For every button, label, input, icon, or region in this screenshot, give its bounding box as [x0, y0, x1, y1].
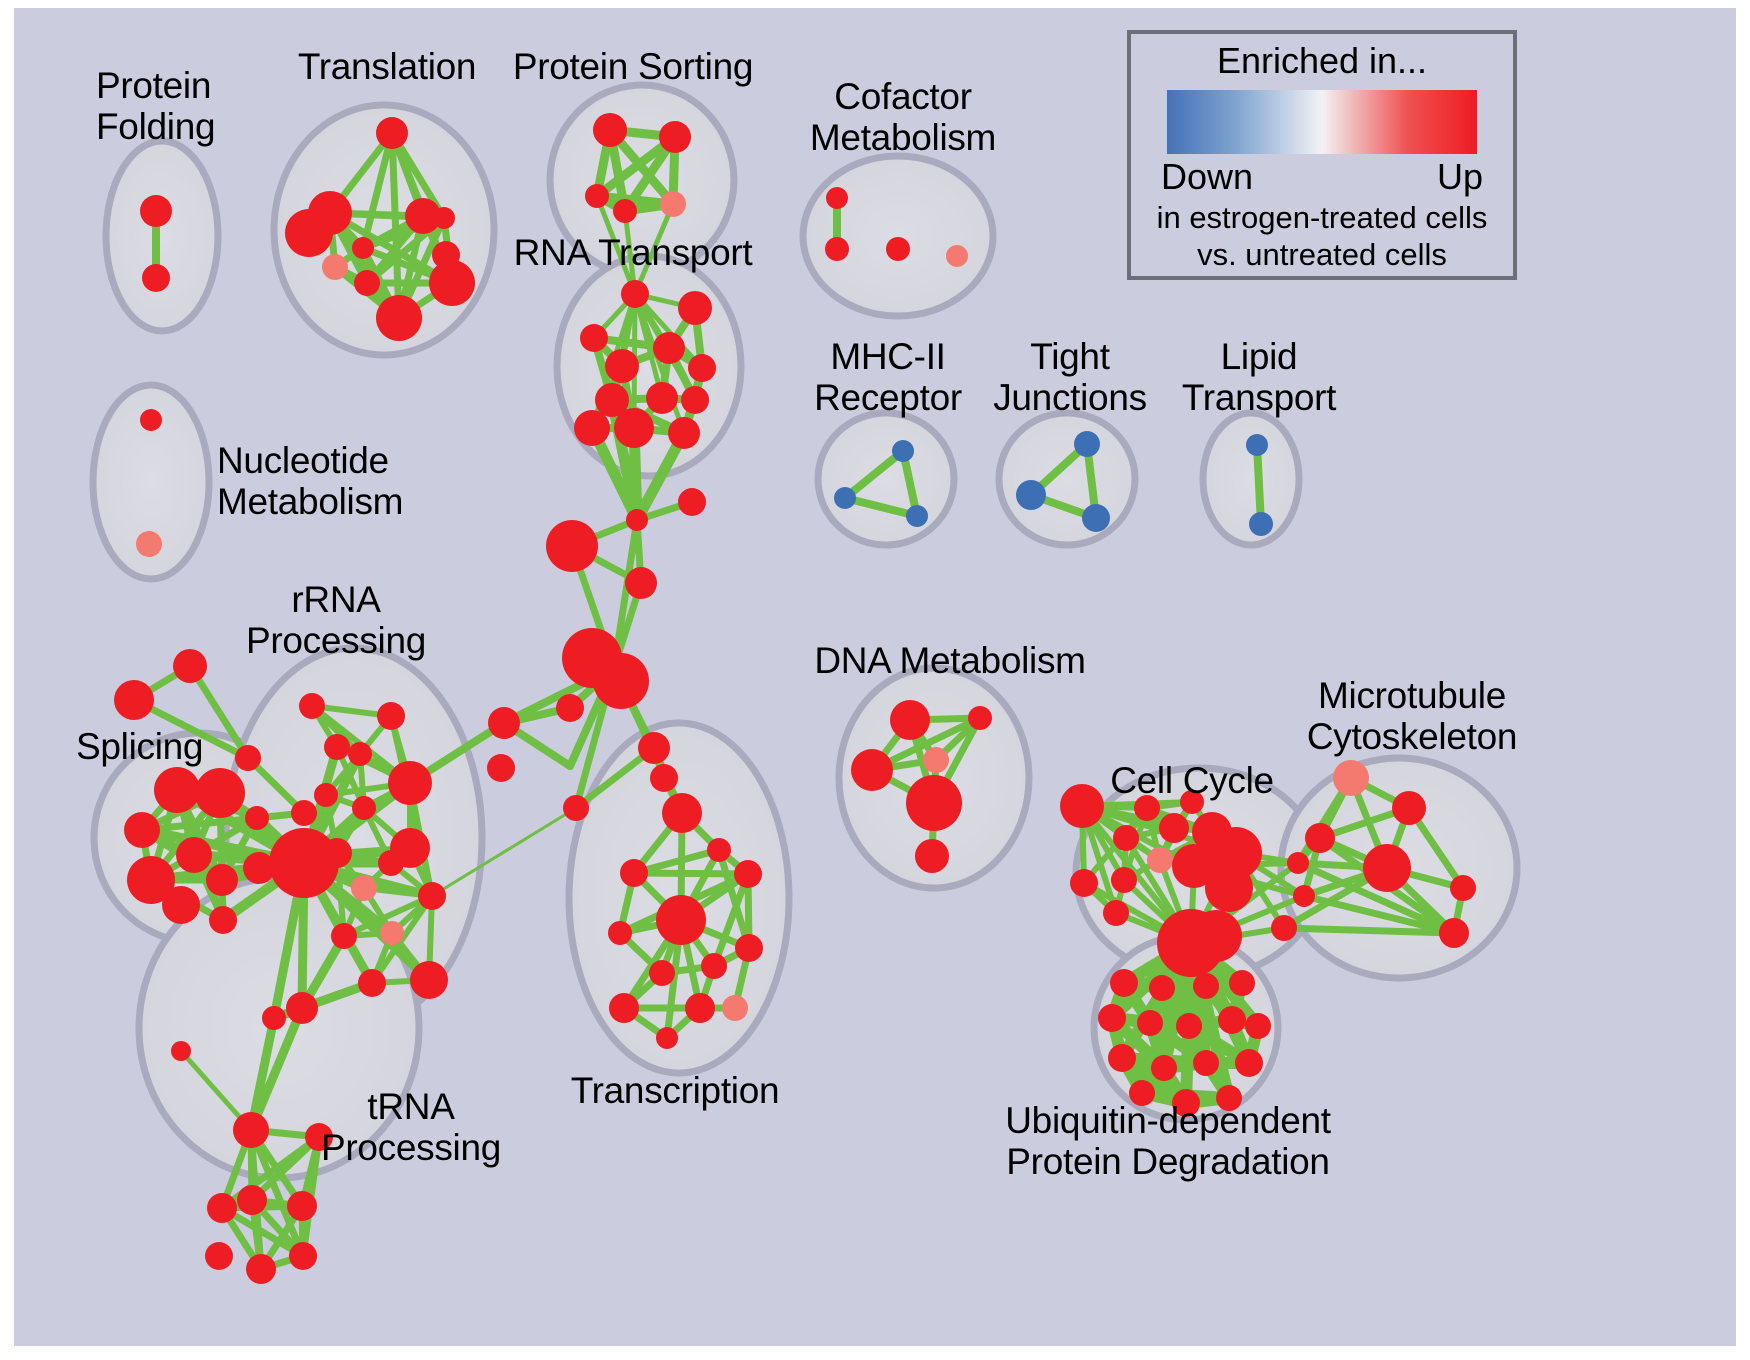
hull-tight-junctions	[999, 413, 1135, 545]
node	[678, 488, 706, 516]
node	[613, 199, 637, 223]
node	[299, 693, 325, 719]
node	[825, 237, 849, 261]
label-dna-metabolism: DNA Metabolism	[814, 640, 1085, 681]
node	[352, 237, 374, 259]
node	[1205, 864, 1253, 912]
node	[653, 332, 685, 364]
legend-subtitle-line1: in estrogen-treated cells	[1131, 200, 1513, 235]
node	[1111, 867, 1137, 893]
node	[314, 783, 338, 807]
node	[1108, 1044, 1136, 1072]
node	[968, 706, 992, 730]
node	[892, 440, 914, 462]
label-mhc-ii-receptor: MHC-II Receptor	[814, 336, 962, 418]
node	[681, 386, 709, 414]
node	[722, 995, 748, 1021]
node	[563, 795, 589, 821]
node	[354, 270, 380, 296]
node	[114, 680, 154, 720]
node	[376, 117, 408, 149]
node	[287, 1191, 317, 1221]
node	[262, 1006, 286, 1030]
node	[826, 187, 848, 209]
node	[286, 992, 318, 1024]
node	[1193, 1050, 1219, 1076]
node	[176, 837, 212, 873]
node	[688, 354, 716, 382]
node	[946, 245, 968, 267]
label-cofactor-metabolism: Cofactor Metabolism	[810, 76, 996, 158]
node	[206, 864, 238, 896]
label-microtubule-cytoskeleton: Microtubule Cytoskeleton	[1307, 675, 1517, 757]
node	[734, 860, 762, 888]
node	[1333, 760, 1369, 796]
node	[915, 839, 949, 873]
node	[1305, 823, 1335, 853]
node	[488, 707, 520, 739]
node	[1229, 970, 1255, 996]
node	[140, 195, 172, 227]
label-cell-cycle: Cell Cycle	[1110, 760, 1274, 801]
node	[660, 191, 686, 217]
node	[209, 906, 237, 934]
node	[1151, 1055, 1177, 1081]
node	[245, 806, 269, 830]
label-protein-folding: Protein Folding	[96, 65, 215, 147]
node	[886, 237, 910, 261]
node	[1159, 813, 1189, 843]
node	[237, 1185, 267, 1215]
node	[233, 1112, 269, 1148]
label-protein-sorting: Protein Sorting	[513, 46, 753, 87]
node	[1137, 1010, 1163, 1036]
label-rna-transport: RNA Transport	[514, 232, 753, 273]
node	[1439, 918, 1469, 948]
legend-box: Enriched in... Down Up in estrogen-treat…	[1127, 30, 1517, 280]
node	[322, 838, 352, 868]
node	[1070, 869, 1098, 897]
hull-protein-folding	[106, 141, 218, 331]
label-trna-processing: tRNA Processing	[321, 1086, 501, 1168]
node	[656, 1027, 678, 1049]
node	[351, 875, 377, 901]
node	[348, 742, 372, 766]
figure-root: Protein Folding Translation Protein Sort…	[0, 0, 1750, 1360]
node	[1147, 847, 1173, 873]
node	[659, 121, 691, 153]
node	[377, 702, 405, 730]
node	[707, 838, 731, 862]
node	[1287, 852, 1309, 874]
node	[322, 254, 348, 280]
label-tight-junctions: Tight Junctions	[993, 336, 1147, 418]
node	[124, 812, 160, 848]
node	[358, 969, 386, 997]
legend-title: Enriched in...	[1131, 40, 1513, 82]
node	[546, 520, 598, 572]
node	[649, 960, 675, 986]
node	[376, 295, 422, 341]
legend-low-label: Down	[1161, 156, 1253, 198]
node	[1060, 784, 1104, 828]
node	[1016, 480, 1046, 510]
node	[1149, 975, 1175, 1001]
node	[890, 700, 930, 740]
node	[1363, 844, 1411, 892]
node	[195, 768, 245, 818]
node	[171, 1041, 191, 1061]
node	[1218, 1006, 1246, 1034]
node	[556, 694, 584, 722]
node	[388, 761, 432, 805]
node	[1113, 825, 1139, 851]
node	[585, 184, 609, 208]
node	[1246, 434, 1268, 456]
node	[638, 732, 670, 764]
label-transcription: Transcription	[571, 1070, 780, 1111]
node	[289, 1242, 317, 1270]
node	[154, 767, 200, 813]
node	[625, 567, 657, 599]
node	[609, 993, 639, 1023]
node	[136, 531, 162, 557]
node	[235, 745, 261, 771]
node	[1110, 969, 1138, 997]
node	[626, 509, 648, 531]
node	[621, 280, 649, 308]
node	[487, 754, 515, 782]
node	[324, 734, 350, 760]
legend-subtitle-line2: vs. untreated cells	[1131, 237, 1513, 272]
node	[906, 775, 962, 831]
node	[1103, 900, 1129, 926]
label-lipid-transport: Lipid Transport	[1182, 336, 1336, 418]
node	[646, 382, 678, 414]
node	[650, 764, 678, 792]
node	[834, 487, 856, 509]
node	[851, 749, 893, 791]
node	[378, 850, 404, 876]
node	[614, 408, 654, 448]
network-canvas: Protein Folding Translation Protein Sort…	[14, 8, 1736, 1346]
node	[1271, 915, 1297, 941]
legend-high-label: Up	[1437, 156, 1483, 198]
node	[173, 649, 207, 683]
node	[429, 260, 475, 306]
node	[678, 291, 712, 325]
label-ubiquitin-degradation: Ubiquitin-dependent Protein Degradation	[1005, 1100, 1331, 1182]
node	[593, 653, 649, 709]
node	[418, 882, 446, 910]
node	[1249, 512, 1273, 536]
node	[668, 417, 700, 449]
node	[1392, 791, 1426, 825]
node	[1193, 973, 1219, 999]
node	[1450, 875, 1476, 901]
node	[735, 934, 763, 962]
node	[162, 886, 200, 924]
node	[410, 961, 448, 999]
hull-mhc-ii	[818, 413, 954, 545]
hull-cofactor-metabolism	[803, 156, 993, 316]
node	[331, 923, 357, 949]
node	[608, 921, 632, 945]
label-splicing: Splicing	[76, 726, 203, 767]
node	[246, 1254, 276, 1284]
node	[1190, 910, 1242, 962]
node	[1098, 1004, 1126, 1032]
node	[656, 895, 706, 945]
node	[1293, 885, 1315, 907]
node	[574, 410, 610, 446]
node	[906, 505, 928, 527]
node	[605, 349, 639, 383]
node	[207, 1193, 237, 1223]
node	[140, 409, 162, 431]
label-nucleotide-metabolism: Nucleotide Metabolism	[217, 440, 403, 522]
node	[352, 796, 376, 820]
node	[1235, 1049, 1263, 1077]
label-translation: Translation	[298, 46, 476, 87]
node	[685, 993, 715, 1023]
node	[923, 747, 949, 773]
node	[142, 264, 170, 292]
node	[701, 953, 727, 979]
node	[662, 793, 702, 833]
node	[593, 113, 627, 147]
node	[380, 921, 404, 945]
node	[285, 209, 333, 257]
node	[433, 207, 455, 229]
node	[1082, 504, 1110, 532]
node	[1074, 431, 1100, 457]
node	[1176, 1013, 1202, 1039]
legend-color-ramp	[1167, 90, 1477, 154]
node	[620, 859, 648, 887]
node	[1245, 1013, 1271, 1039]
node	[580, 324, 608, 352]
label-rrna-processing: rRNA Processing	[246, 579, 426, 661]
node	[291, 800, 317, 826]
node	[205, 1242, 233, 1270]
